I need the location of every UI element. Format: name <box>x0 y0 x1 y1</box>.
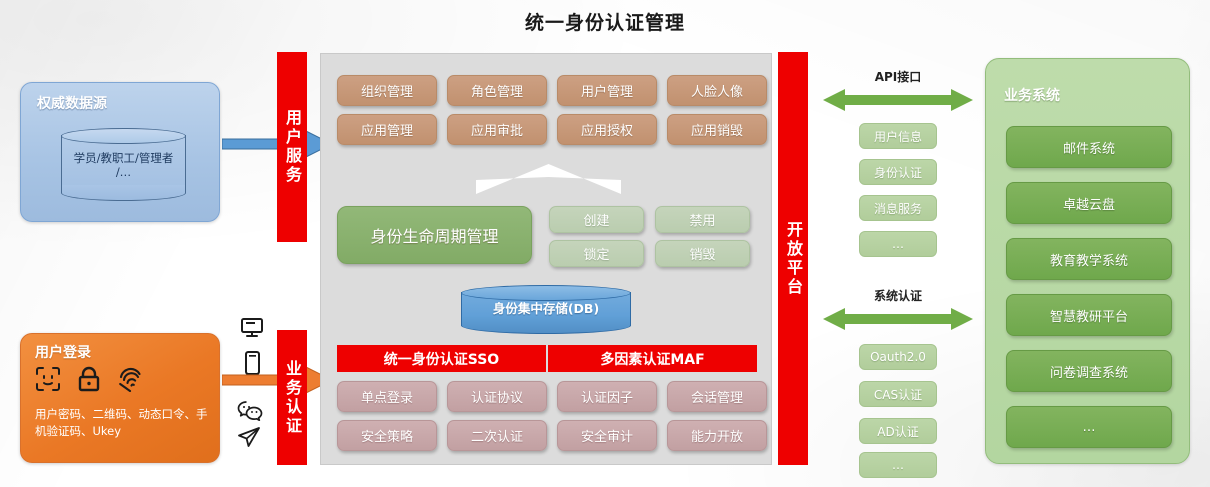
page-title: 统一身份认证管理 <box>0 8 1210 35</box>
auth-header-sso: 统一身份认证SSO <box>337 345 546 372</box>
auth-header-mfa: 多因素认证MAF <box>548 345 757 372</box>
core-pill-role-mgmt[interactable]: 角色管理 <box>447 75 547 106</box>
api-item-identity-auth[interactable]: 身份认证 <box>859 159 937 185</box>
business-systems-heading: 业务系统 <box>1004 85 1060 105</box>
paper-plane-icon <box>237 433 261 452</box>
core-pill-org-mgmt[interactable]: 组织管理 <box>337 75 437 106</box>
sysauth-item-ad[interactable]: AD认证 <box>859 418 937 444</box>
api-item-message-service[interactable]: 消息服务 <box>859 195 937 221</box>
business-systems-panel: 业务系统 邮件系统 卓越云盘 教育教学系统 智慧教研平台 问卷调查系统 … <box>985 58 1190 464</box>
business-item-more[interactable]: … <box>1006 406 1172 448</box>
business-item-clouddisk[interactable]: 卓越云盘 <box>1006 182 1172 224</box>
user-login-box: 用户登录 <box>20 333 220 463</box>
authoritative-data-source-heading: 权威数据源 <box>37 93 107 113</box>
lifecycle-action-lock[interactable]: 锁定 <box>549 240 644 267</box>
core-pill-user-mgmt[interactable]: 用户管理 <box>557 75 657 106</box>
fingerprint-icon <box>117 366 143 392</box>
authoritative-data-source-box: 权威数据源 学员/教职工/管理者/… <box>20 82 220 222</box>
auth-pill-factor[interactable]: 认证因子 <box>557 381 657 412</box>
chevron-up-icon <box>476 164 621 196</box>
business-item-education[interactable]: 教育教学系统 <box>1006 238 1172 280</box>
db-top-ellipse <box>461 285 631 301</box>
user-login-heading: 用户登录 <box>35 342 91 362</box>
identity-database-cylinder: 身份集中存储(DB) <box>461 292 631 326</box>
business-item-research[interactable]: 智慧教研平台 <box>1006 294 1172 336</box>
business-item-survey[interactable]: 问卷调查系统 <box>1006 350 1172 392</box>
login-method-icons <box>35 366 143 392</box>
api-double-arrow <box>823 89 973 111</box>
diagram-canvas: 统一身份认证管理 权威数据源 学员/教职工/管理者/… 用户登录 <box>0 0 1210 487</box>
db-label: 身份集中存储(DB) <box>462 301 630 317</box>
login-methods-description: 用户密码、二维码、动态口令、手机验证码、Ukey <box>35 406 209 441</box>
api-item-user-info[interactable]: 用户信息 <box>859 123 937 149</box>
band-open-platform: 开放平台 <box>778 52 808 465</box>
sysauth-item-cas[interactable]: CAS认证 <box>859 381 937 407</box>
sysauth-item-more[interactable]: … <box>859 452 937 478</box>
cylinder-top-ellipse <box>61 128 186 144</box>
business-item-mail[interactable]: 邮件系统 <box>1006 126 1172 168</box>
core-pill-app-destroy[interactable]: 应用销毁 <box>667 114 767 145</box>
lifecycle-action-create[interactable]: 创建 <box>549 206 644 233</box>
identity-lifecycle-box[interactable]: 身份生命周期管理 <box>337 206 532 264</box>
lock-icon <box>77 366 101 392</box>
monitor-icon <box>241 318 263 342</box>
data-source-cylinder: 学员/教职工/管理者/… <box>61 135 186 193</box>
core-pill-face-image[interactable]: 人脸人像 <box>667 75 767 106</box>
auth-pill-security-audit[interactable]: 安全审计 <box>557 420 657 451</box>
db-bottom-ellipse <box>461 317 631 334</box>
api-item-more[interactable]: … <box>859 231 937 257</box>
device-icons-bottom <box>237 400 267 452</box>
core-pill-app-approve[interactable]: 应用审批 <box>447 114 547 145</box>
cylinder-bottom-ellipse <box>61 185 186 201</box>
sysauth-item-oauth2[interactable]: Oauth2.0 <box>859 344 937 370</box>
band-business-auth: 业务认证 <box>277 330 307 465</box>
core-platform-panel: 组织管理 角色管理 用户管理 人脸人像 应用管理 应用审批 应用授权 应用销毁 … <box>320 53 772 465</box>
core-pill-app-authz[interactable]: 应用授权 <box>557 114 657 145</box>
core-pill-app-mgmt[interactable]: 应用管理 <box>337 114 437 145</box>
face-id-icon <box>35 366 61 392</box>
system-auth-caption: 系统认证 <box>843 287 953 304</box>
lifecycle-action-disable[interactable]: 禁用 <box>655 206 750 233</box>
system-auth-double-arrow <box>823 308 973 330</box>
auth-pill-second-auth[interactable]: 二次认证 <box>447 420 547 451</box>
lifecycle-action-destroy[interactable]: 销毁 <box>655 240 750 267</box>
band-user-service: 用户服务 <box>277 52 307 242</box>
auth-pill-session-mgmt[interactable]: 会话管理 <box>667 381 767 412</box>
auth-pill-capability-open[interactable]: 能力开放 <box>667 420 767 451</box>
auth-pill-sso-login[interactable]: 单点登录 <box>337 381 437 412</box>
auth-pill-security-policy[interactable]: 安全策略 <box>337 420 437 451</box>
cylinder-label: 学员/教职工/管理者/… <box>62 151 185 180</box>
wechat-icon <box>237 407 263 426</box>
auth-pill-protocol[interactable]: 认证协议 <box>447 381 547 412</box>
api-interface-caption: API接口 <box>843 68 953 85</box>
